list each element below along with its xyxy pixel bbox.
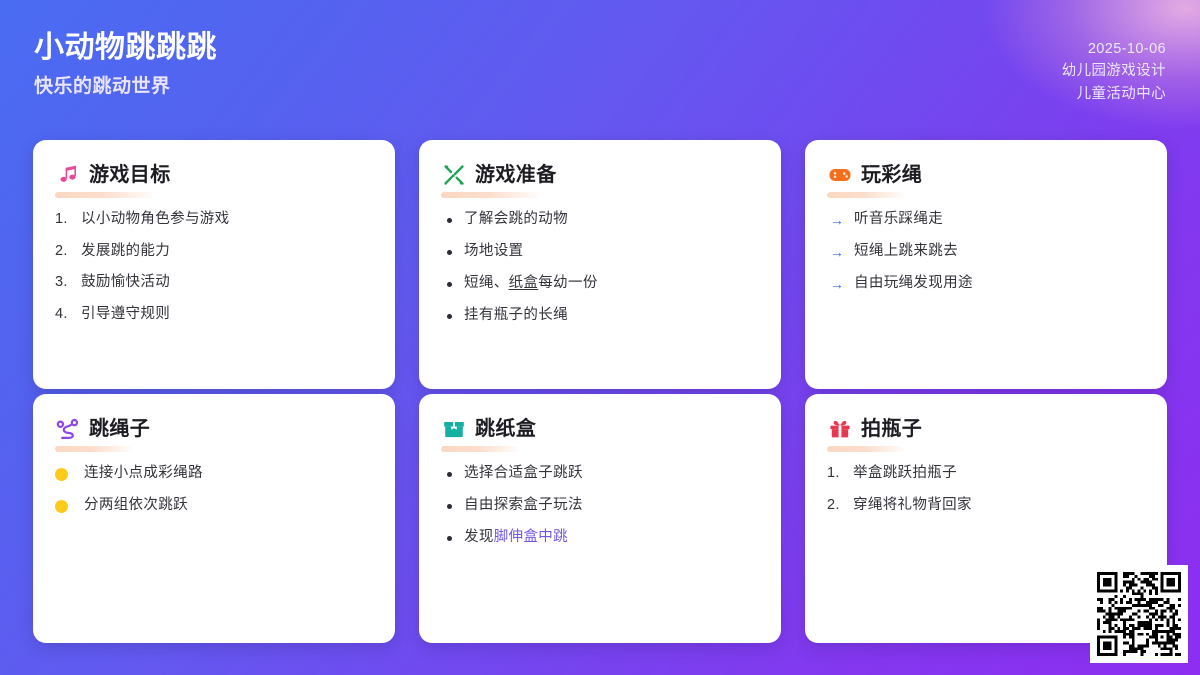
list-marker-number: 1. xyxy=(827,464,846,484)
list-item: 1.以小动物角色参与游戏 xyxy=(55,210,373,230)
list-item: 2.发展跳的能力 xyxy=(55,242,373,262)
arrow-right-icon: → xyxy=(827,274,847,294)
music-note-icon xyxy=(55,162,80,187)
list-item-text: 听音乐踩绳走 xyxy=(854,210,1145,230)
card-list: 了解会跳的动物场地设置短绳、纸盒每幼一份挂有瓶子的长绳 xyxy=(441,210,759,338)
text-pre: 短绳、 xyxy=(464,275,509,291)
list-item-text: 穿绳将礼物背回家 xyxy=(853,496,1145,516)
meta-date: 2025-10-06 xyxy=(1088,38,1166,60)
slide-header: 小动物跳跳跳 快乐的跳动世界 2025-10-06 幼儿园游戏设计 儿童活动中心 xyxy=(0,0,1200,122)
list-item-text: 鼓励愉快活动 xyxy=(81,273,373,293)
list-item-text: 选择合适盒子跳跃 xyxy=(464,464,759,484)
title-underline xyxy=(827,192,904,198)
card-header: 玩彩绳 xyxy=(827,162,1145,187)
list-marker-dot xyxy=(441,464,457,484)
list-item: 连接小点成彩绳路 xyxy=(55,464,373,484)
meta-venue: 儿童活动中心 xyxy=(1077,83,1166,105)
card-header: 游戏目标 xyxy=(55,162,373,187)
text-pre: 发现 xyxy=(464,529,494,545)
arrow-right-icon: → xyxy=(827,242,847,262)
list-item: 2.穿绳将礼物背回家 xyxy=(827,496,1145,516)
card-title: 拍瓶子 xyxy=(861,417,922,441)
list-item: →自由玩绳发现用途 xyxy=(827,274,1145,294)
title-underline xyxy=(441,192,539,198)
text-underlined: 纸盒 xyxy=(509,275,539,291)
card-5: 跳纸盒选择合适盒子跳跃自由探索盒子玩法发现脚伸盒中跳 xyxy=(419,394,781,643)
card-3: 玩彩绳→听音乐踩绳走→短绳上跳来跳去→自由玩绳发现用途 xyxy=(805,140,1167,389)
text-post: 每幼一份 xyxy=(538,275,597,291)
list-item: 3.鼓励愉快活动 xyxy=(55,273,373,293)
text-highlighted: 脚伸盒中跳 xyxy=(494,529,568,545)
header-left: 小动物跳跳跳 快乐的跳动世界 xyxy=(34,30,217,99)
card-list: 选择合适盒子跳跃自由探索盒子玩法发现脚伸盒中跳 xyxy=(441,464,759,560)
card-list: 1.以小动物角色参与游戏2.发展跳的能力3.鼓励愉快活动4.引导遵守规则 xyxy=(55,210,373,336)
list-item-text: 举盒跳跃拍瓶子 xyxy=(853,464,1145,484)
list-item-text: 引导遵守规则 xyxy=(81,305,373,325)
list-item: 1.举盒跳跃拍瓶子 xyxy=(827,464,1145,484)
card-list: 连接小点成彩绳路分两组依次跳跃 xyxy=(55,464,373,528)
list-marker-number: 2. xyxy=(827,496,846,516)
list-item: 场地设置 xyxy=(441,242,759,262)
list-item-text: 自由探索盒子玩法 xyxy=(464,496,759,516)
list-marker-dot xyxy=(441,496,457,516)
list-item: 自由探索盒子玩法 xyxy=(441,496,759,516)
list-marker-number: 2. xyxy=(55,242,74,262)
open-box-icon xyxy=(441,416,466,441)
card-title: 游戏准备 xyxy=(475,163,557,187)
list-item: →听音乐踩绳走 xyxy=(827,210,1145,230)
list-item-text: 发现脚伸盒中跳 xyxy=(464,528,759,548)
tools-icon xyxy=(441,162,466,187)
list-item: 分两组依次跳跃 xyxy=(55,496,373,516)
list-item: 短绳、纸盒每幼一份 xyxy=(441,274,759,294)
list-item: 4.引导遵守规则 xyxy=(55,305,373,325)
list-item-text: 短绳上跳来跳去 xyxy=(854,242,1145,262)
list-item-text: 分两组依次跳跃 xyxy=(84,496,373,516)
list-item-text: 发展跳的能力 xyxy=(81,242,373,262)
list-marker-dot xyxy=(441,528,457,548)
title-underline xyxy=(55,446,132,452)
list-marker-number: 1. xyxy=(55,210,74,230)
card-header: 跳纸盒 xyxy=(441,416,759,441)
gamepad-icon xyxy=(827,162,852,187)
list-marker-circle xyxy=(55,496,77,516)
list-item: →短绳上跳来跳去 xyxy=(827,242,1145,262)
title-underline xyxy=(441,446,518,452)
list-item-text: 短绳、纸盒每幼一份 xyxy=(464,274,759,294)
list-item-text: 挂有瓶子的长绳 xyxy=(464,306,759,326)
list-marker-number: 3. xyxy=(55,273,74,293)
page-title: 小动物跳跳跳 xyxy=(34,30,217,65)
card-1: 游戏目标1.以小动物角色参与游戏2.发展跳的能力3.鼓励愉快活动4.引导遵守规则 xyxy=(33,140,395,389)
card-list: →听音乐踩绳走→短绳上跳来跳去→自由玩绳发现用途 xyxy=(827,210,1145,306)
list-item-text: 以小动物角色参与游戏 xyxy=(81,210,373,230)
list-marker-dot xyxy=(441,242,457,262)
card-title: 玩彩绳 xyxy=(861,163,922,187)
card-header: 拍瓶子 xyxy=(827,416,1145,441)
card-grid: 游戏目标1.以小动物角色参与游戏2.发展跳的能力3.鼓励愉快活动4.引导遵守规则… xyxy=(33,140,1167,643)
gift-icon xyxy=(827,416,852,441)
arrow-right-icon: → xyxy=(827,210,847,230)
list-item: 了解会跳的动物 xyxy=(441,210,759,230)
list-marker-number: 4. xyxy=(55,305,74,325)
card-title: 游戏目标 xyxy=(89,163,171,187)
list-item-text: 了解会跳的动物 xyxy=(464,210,759,230)
list-item: 挂有瓶子的长绳 xyxy=(441,306,759,326)
list-marker-dot xyxy=(441,306,457,326)
list-marker-dot xyxy=(441,210,457,230)
list-item: 发现脚伸盒中跳 xyxy=(441,528,759,548)
card-header: 游戏准备 xyxy=(441,162,759,187)
list-item-text: 场地设置 xyxy=(464,242,759,262)
route-icon xyxy=(55,416,80,441)
list-marker-dot xyxy=(441,274,457,294)
page-subtitle: 快乐的跳动世界 xyxy=(34,76,217,99)
card-title: 跳绳子 xyxy=(89,417,150,441)
header-meta: 2025-10-06 幼儿园游戏设计 儿童活动中心 xyxy=(1062,30,1166,105)
list-marker-circle xyxy=(55,464,77,484)
qr-code-image xyxy=(1097,572,1181,656)
slide-root: 小动物跳跳跳 快乐的跳动世界 2025-10-06 幼儿园游戏设计 儿童活动中心… xyxy=(0,0,1200,675)
card-4: 跳绳子连接小点成彩绳路分两组依次跳跃 xyxy=(33,394,395,643)
meta-org: 幼儿园游戏设计 xyxy=(1062,60,1166,82)
title-underline xyxy=(827,446,904,452)
list-item: 选择合适盒子跳跃 xyxy=(441,464,759,484)
qr-code[interactable] xyxy=(1090,565,1188,663)
card-list: 1.举盒跳跃拍瓶子2.穿绳将礼物背回家 xyxy=(827,464,1145,527)
list-item-text: 连接小点成彩绳路 xyxy=(84,464,373,484)
title-underline xyxy=(55,192,153,198)
card-header: 跳绳子 xyxy=(55,416,373,441)
card-2: 游戏准备了解会跳的动物场地设置短绳、纸盒每幼一份挂有瓶子的长绳 xyxy=(419,140,781,389)
card-title: 跳纸盒 xyxy=(475,417,536,441)
list-item-text: 自由玩绳发现用途 xyxy=(854,274,1145,294)
